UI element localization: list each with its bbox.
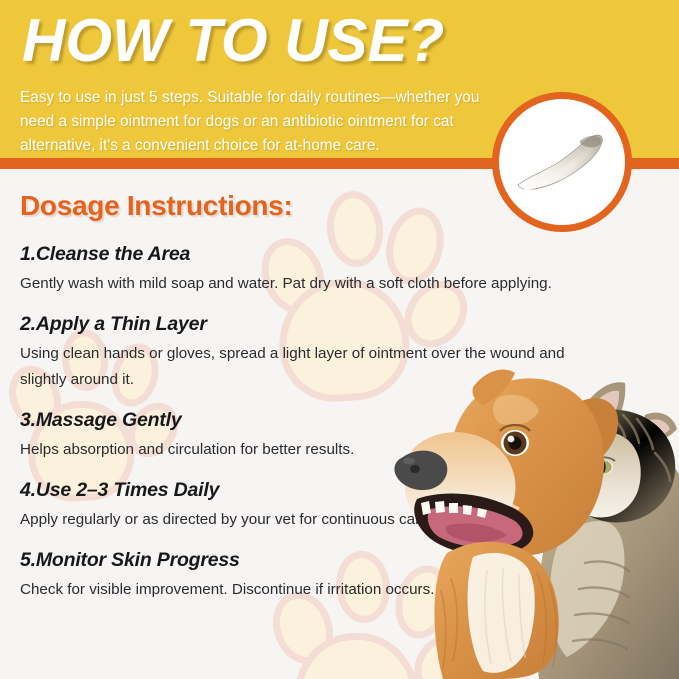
step-title: 1.Cleanse the Area [20, 243, 620, 266]
step-description: Check for visible improvement. Discontin… [20, 577, 580, 603]
step-description: Gently wash with mild soap and water. Pa… [20, 271, 580, 297]
paw-heel-icon [290, 629, 422, 679]
header-subtitle: Easy to use in just 5 steps. Suitable fo… [20, 86, 490, 158]
step-item: 4.Use 2–3 Times Daily Apply regularly or… [20, 479, 620, 533]
step-description: Apply regularly or as directed by your v… [20, 507, 580, 533]
step-title: 4.Use 2–3 Times Daily [20, 479, 620, 502]
dosage-steps-list: 1.Cleanse the Area Gently wash with mild… [20, 243, 620, 619]
step-description: Helps absorption and circulation for bet… [20, 437, 580, 463]
step-description: Using clean hands or gloves, spread a li… [20, 341, 595, 393]
step-title: 3.Massage Gently [20, 409, 620, 432]
section-heading-dosage: Dosage Instructions: [20, 190, 292, 222]
ointment-smear-icon [514, 131, 610, 193]
ointment-badge [492, 92, 632, 232]
step-item: 3.Massage Gently Helps absorption and ci… [20, 409, 620, 463]
infographic-page: HOW TO USE? Easy to use in just 5 steps.… [0, 0, 679, 679]
step-item: 2.Apply a Thin Layer Using clean hands o… [20, 313, 620, 393]
step-item: 1.Cleanse the Area Gently wash with mild… [20, 243, 620, 297]
paw-toe-icon [402, 623, 485, 679]
step-title: 5.Monitor Skin Progress [20, 549, 620, 572]
step-title: 2.Apply a Thin Layer [20, 313, 620, 336]
page-title: HOW TO USE? [22, 8, 444, 74]
step-item: 5.Monitor Skin Progress Check for visibl… [20, 549, 620, 603]
